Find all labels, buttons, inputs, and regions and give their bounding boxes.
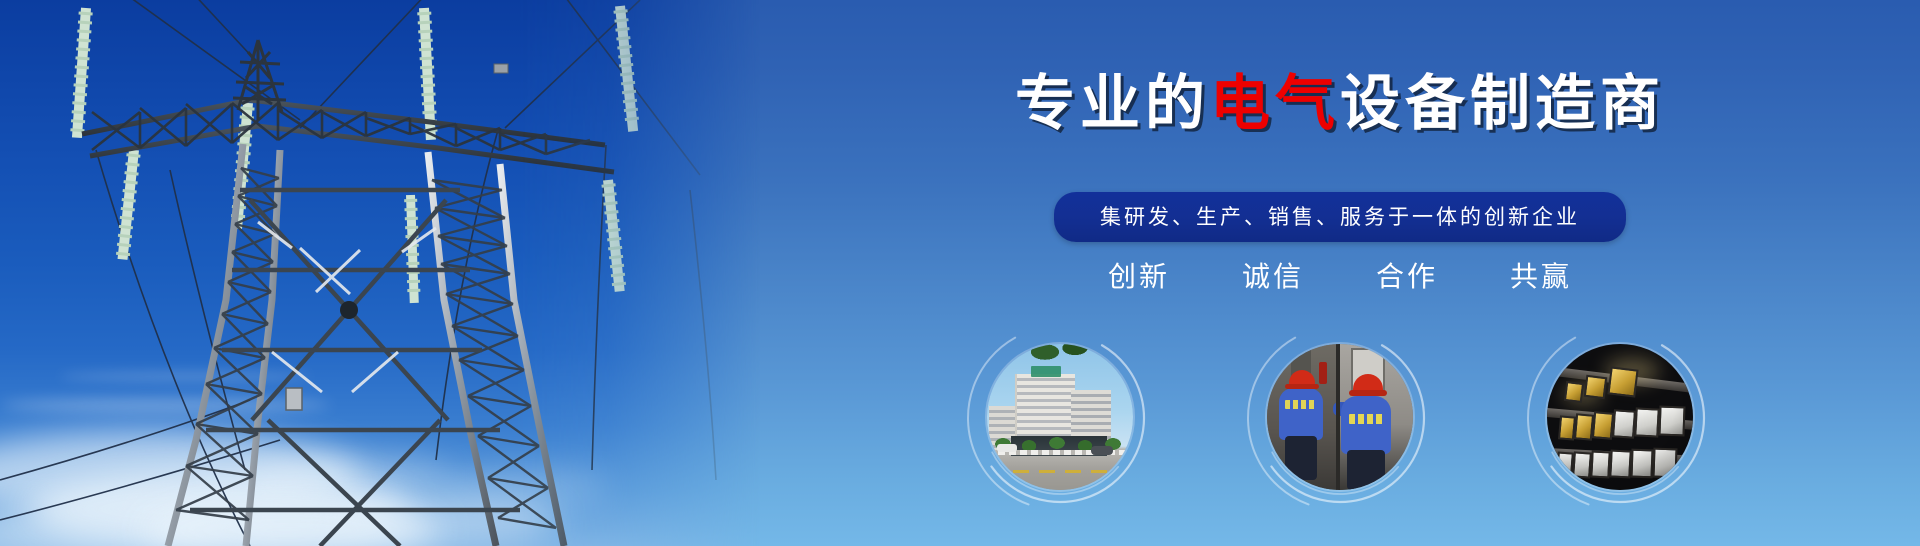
- banner-content: 专业的电气设备制造商 集研发、生产、销售、服务于一体的创新企业 创新 诚信 合作…: [760, 0, 1920, 546]
- pylon-lattice-structure: [0, 0, 760, 546]
- workers-image: [1267, 344, 1413, 490]
- core-values-row: 创新 诚信 合作 共赢: [760, 255, 1920, 295]
- circle-office-building[interactable]: [960, 318, 1160, 518]
- tower-left-leg: [168, 144, 280, 546]
- photo-vignette: [1547, 344, 1693, 490]
- promo-banner: 专业的电气设备制造商 集研发、生产、销售、服务于一体的创新企业 创新 诚信 合作…: [0, 0, 1920, 546]
- transmission-tower-photo: [0, 0, 760, 546]
- brace-center-node: [340, 301, 358, 319]
- photo-worker-1-jacket: [1279, 388, 1323, 440]
- insulator-string: [70, 5, 640, 303]
- cross-arm-truss: [82, 100, 614, 172]
- value-item-1: 创新: [1102, 255, 1176, 295]
- value-item-4: 共赢: [1504, 255, 1578, 295]
- certificate-wall-image: [1547, 344, 1693, 490]
- photo-circle-row: [760, 318, 1920, 518]
- headline-accent-text: 电气: [1210, 69, 1340, 139]
- photo-foreground-foliage: [1023, 344, 1099, 368]
- photo-worker-2-back-print: [1349, 414, 1385, 424]
- office-building-image: [987, 344, 1133, 490]
- photo-image-divider: [1336, 344, 1340, 490]
- photo-worker-2-trousers: [1347, 450, 1385, 490]
- photo-fire-extinguisher: [1319, 362, 1327, 384]
- headline-part-2: 设备制造商: [1340, 69, 1665, 139]
- subtitle-pill: 集研发、生产、销售、服务于一体的创新企业: [1054, 192, 1626, 242]
- value-item-3: 合作: [1370, 255, 1444, 295]
- equipment-box: [494, 64, 508, 73]
- equipment-box: [286, 388, 302, 410]
- headline-part-1: 专业的: [1015, 69, 1210, 139]
- photo-worker-1-hard-hat-brim: [1285, 384, 1319, 389]
- value-item-2: 诚信: [1236, 255, 1310, 295]
- photo-car: [997, 444, 1017, 452]
- photo-worker-1-trousers: [1285, 436, 1317, 480]
- photo-worker-2-jacket: [1341, 396, 1391, 454]
- circle-certificate-wall[interactable]: [1520, 318, 1720, 518]
- photo-car: [1091, 446, 1113, 455]
- circle-workers-installing[interactable]: [1240, 318, 1440, 518]
- photo-worker-1-back-print: [1285, 400, 1317, 409]
- photo-road-marking: [987, 470, 1133, 473]
- page-title: 专业的电气设备制造商: [760, 74, 1920, 134]
- photo-worker-2-hard-hat-brim: [1349, 390, 1387, 396]
- power-lines: [0, 0, 716, 546]
- subtitle-text: 集研发、生产、销售、服务于一体的创新企业: [1100, 205, 1580, 229]
